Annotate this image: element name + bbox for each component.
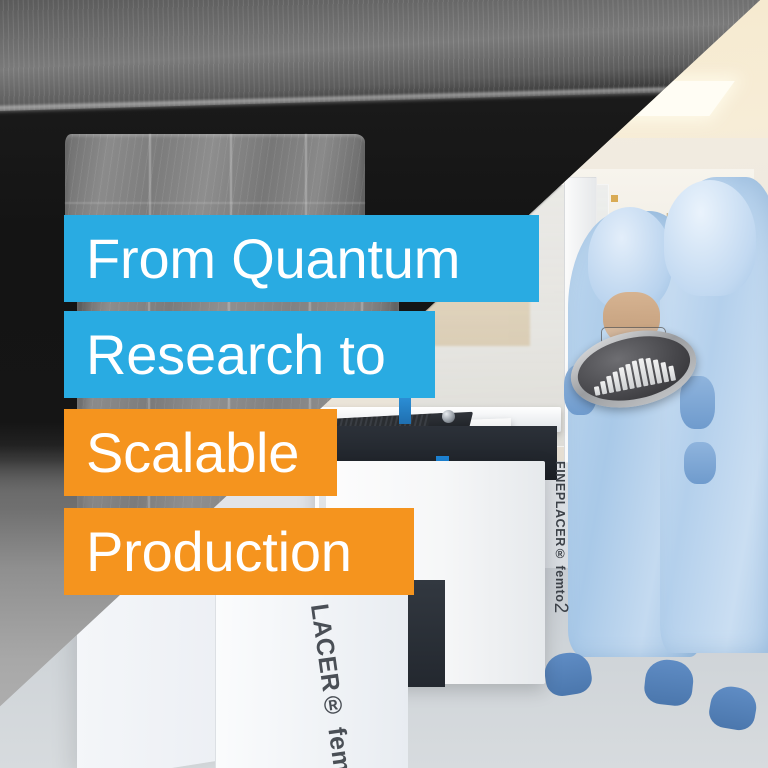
headline-line-2-text: Research to: [86, 327, 386, 383]
headline-line-4: Production: [64, 508, 414, 595]
promo-banner: finetech: [0, 0, 768, 768]
headline-line-1-text: From Quantum: [86, 231, 460, 287]
headline-block: From Quantum Research to Scalable Produc…: [0, 0, 768, 768]
headline-line-2: Research to: [64, 311, 435, 398]
headline-line-4-text: Production: [86, 524, 352, 580]
headline-line-1: From Quantum: [64, 215, 539, 302]
headline-line-3: Scalable: [64, 409, 337, 496]
headline-line-3-text: Scalable: [86, 425, 299, 481]
